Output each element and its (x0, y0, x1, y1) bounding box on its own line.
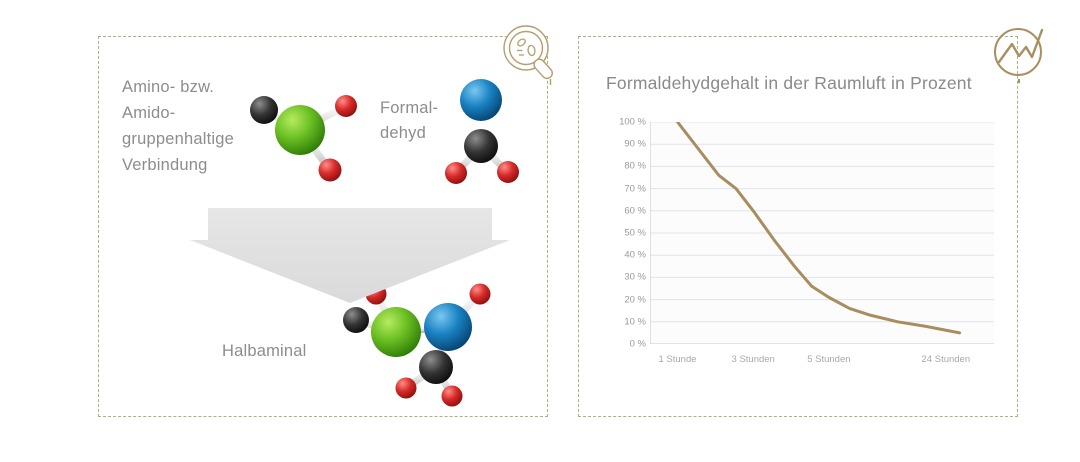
chart-title: Formaldehydgehalt in der Raumluft in Pro… (606, 73, 972, 94)
y-axis-tick: 30 % (624, 272, 646, 283)
y-axis-tick: 10 % (624, 316, 646, 327)
y-axis-tick: 90 % (624, 139, 646, 150)
y-axis-tick: 100 % (619, 117, 646, 128)
formaldehyde-molecule (432, 68, 542, 193)
y-axis-labels: 100 %90 %80 %70 %60 %50 %40 %30 %20 %10 … (604, 122, 646, 344)
down-arrow-icon (190, 200, 510, 310)
x-axis-tick: 1 Stunde (658, 354, 696, 365)
y-axis-tick: 20 % (624, 294, 646, 305)
plot-area (650, 122, 994, 344)
slide-canvas: Amino- bzw. Amido- gruppenhaltige Verbin… (0, 0, 1080, 462)
x-axis-labels: 1 Stunde3 Stunden5 Stunden24 Stunden (650, 354, 994, 374)
y-axis-tick: 50 % (624, 228, 646, 239)
y-axis-tick: 60 % (624, 205, 646, 216)
x-axis-tick: 24 Stunden (922, 354, 971, 365)
x-axis-tick: 3 Stunden (732, 354, 775, 365)
y-axis-tick: 70 % (624, 183, 646, 194)
y-axis-tick: 80 % (624, 161, 646, 172)
y-axis-tick: 40 % (624, 250, 646, 261)
trend-chart-circle-icon (988, 20, 1052, 84)
y-axis-tick: 0 % (630, 339, 646, 350)
x-axis-tick: 5 Stunden (807, 354, 850, 365)
line-chart: 100 %90 %80 %70 %60 %50 %40 %30 %20 %10 … (604, 122, 994, 384)
halbaminal-label: Halbaminal (222, 338, 307, 364)
data-series-line (678, 122, 960, 333)
amino-compound-molecule (238, 82, 368, 197)
